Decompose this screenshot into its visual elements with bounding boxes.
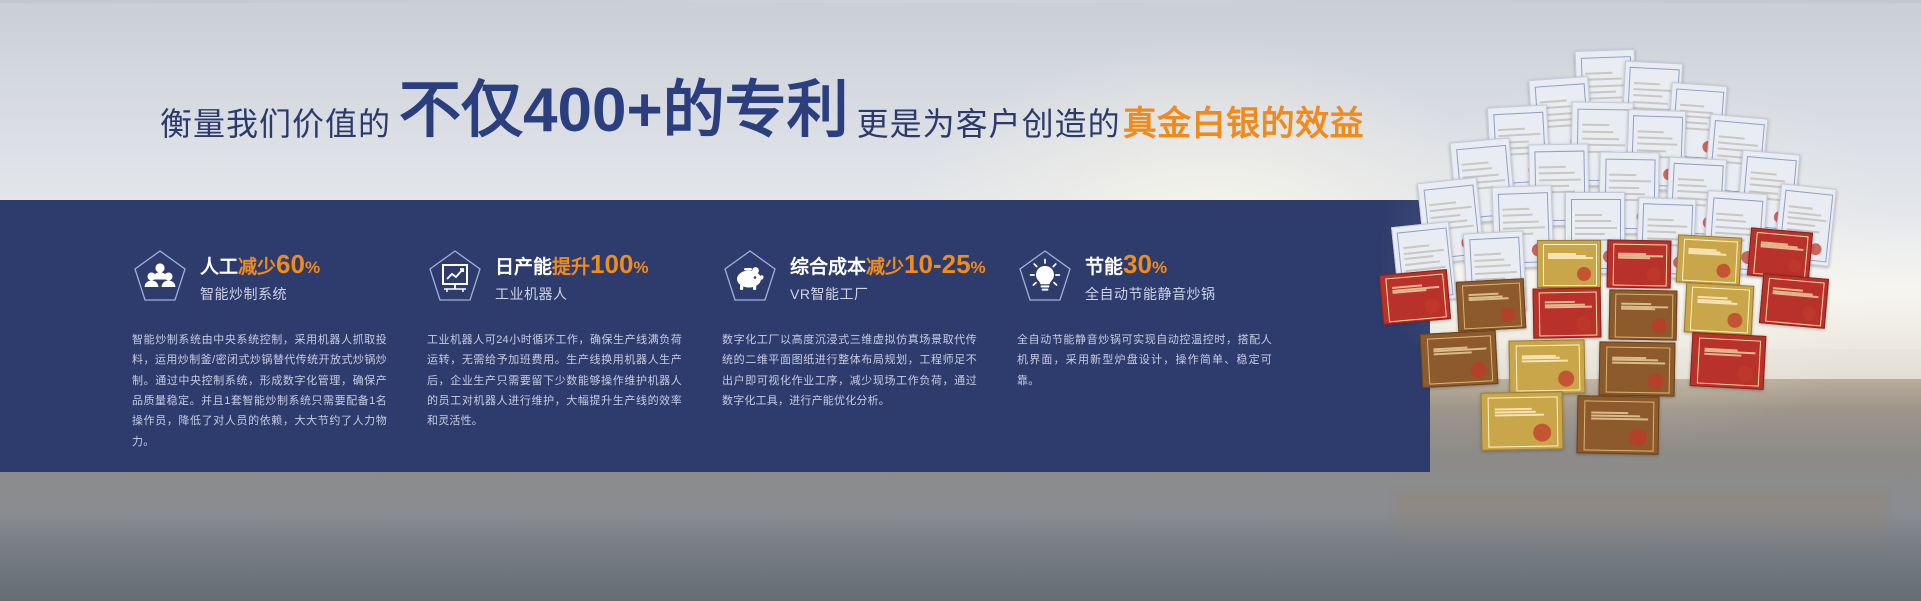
certificate-text-line: [1539, 166, 1566, 168]
feature-heading-text: 综合成本减少10-25% VR智能工厂: [790, 250, 986, 305]
certificate-item: [1577, 395, 1660, 454]
feature-heading-text: 节能30% 全自动节能静音炒锅: [1085, 250, 1216, 305]
certificate-text-line: [1582, 137, 1619, 140]
feature-header: 节能30% 全自动节能静音炒锅: [1017, 246, 1290, 308]
certificate-seal: [1424, 298, 1440, 314]
feature-title-prefix: 日产能: [495, 257, 552, 278]
headline-lead: 衡量我们价值的: [160, 108, 391, 142]
certificate-text-line: [1697, 301, 1738, 305]
feature-subtitle: 智能炒制系统: [200, 284, 320, 304]
headline-mid: 更是为客户创造的: [857, 108, 1121, 142]
certificate-text-line: [1503, 208, 1530, 211]
certificate-text-line: [1633, 94, 1662, 98]
certificate-seal: [1716, 264, 1731, 279]
certificate-item: [1420, 330, 1499, 388]
certificate-text-line: [1462, 167, 1492, 172]
certificate-item: [1684, 282, 1755, 335]
certificate-text-line: [1404, 255, 1433, 260]
certificate-text-line: [1787, 222, 1815, 227]
certificate-text-line: [1503, 220, 1539, 223]
certificate-seal: [1647, 373, 1663, 389]
certificate-text-line: [1647, 231, 1676, 234]
certificate-text-line: [1405, 260, 1440, 266]
feature-body: 工业机器人可24小时循环工作，确保生产线满负荷运转，无需给予加班费用。生产线换用…: [427, 330, 700, 432]
feature-subtitle: 工业机器人: [495, 284, 649, 304]
certificate-text-line: [1474, 253, 1501, 256]
certificate-text-line: [1582, 131, 1613, 134]
certificate-text-line: [1788, 211, 1821, 216]
certificate-text-line: [1462, 161, 1489, 165]
certificate-item: [1607, 239, 1672, 288]
feature-subtitle: VR智能工厂: [790, 284, 986, 304]
certificate-text-line: [1575, 227, 1617, 229]
feature-title-number: 30: [1123, 249, 1152, 279]
certificate-seal: [1576, 316, 1591, 331]
collage-reflection: [1395, 492, 1888, 562]
feature-item[interactable]: 综合成本减少10-25% VR智能工厂 数字化工厂以高度沉浸式三维虚拟仿真场景取…: [722, 246, 1017, 472]
feature-title-highlight: 减少: [866, 257, 904, 278]
certificate-seal: [1628, 428, 1646, 446]
certificate-text-line: [1750, 172, 1776, 176]
certificate-text-line: [1403, 244, 1429, 249]
certificate-text-line: [1539, 172, 1575, 175]
certificate-text-line: [1475, 265, 1511, 269]
feature-title-number: 10-25: [904, 249, 971, 279]
certificate-text-line: [1544, 306, 1592, 309]
certificate-text-line: [1609, 186, 1639, 189]
certificate-text-line: [1575, 233, 1605, 235]
certificate-text-line: [1499, 133, 1541, 137]
certificate-item: [1537, 240, 1601, 288]
certificate-text-line: [1429, 201, 1456, 206]
feature-header: 人工减少60% 智能炒制系统: [132, 246, 405, 308]
certificate-text-line: [1788, 205, 1813, 210]
certificate-text-line: [1540, 99, 1567, 103]
feature-title-highlight: 减少: [238, 257, 276, 278]
feature-title: 节能30%: [1085, 250, 1216, 280]
feature-title-number: 100: [590, 249, 633, 279]
certificate-text-line: [1716, 225, 1752, 230]
certificate-text-line: [1475, 270, 1517, 274]
feature-body: 智能炒制系统由中央系统控制，采用机器人抓取投料，运用炒制釜/密闭式炒锅替代传统开…: [132, 330, 405, 452]
certificate-text-line: [1648, 219, 1674, 222]
feature-title: 综合成本减少10-25%: [790, 250, 986, 280]
feature-title: 人工减少60%: [200, 250, 320, 280]
certificate-text-line: [1637, 143, 1677, 146]
chart-board-icon: [427, 248, 483, 306]
certificate-collage: [1361, 40, 1921, 500]
certificate-text-line: [1548, 257, 1593, 259]
feature-item[interactable]: 日产能提升100% 工业机器人 工业机器人可24小时循环工作，确保生产线满负荷运…: [427, 246, 722, 472]
headline-emphasis: 不仅400+的专利: [391, 80, 857, 142]
certificate-text-line: [1647, 225, 1687, 228]
certificate-text-line: [1431, 214, 1461, 219]
certificate-text-line: [1718, 142, 1758, 148]
feature-title-unit: %: [971, 258, 986, 277]
certificate-text-line: [1633, 101, 1668, 105]
certificate-text-line: [1475, 259, 1505, 263]
feature-title-prefix: 综合成本: [790, 257, 866, 278]
certificate-text-line: [1610, 173, 1637, 175]
certificate-item: [1533, 287, 1602, 338]
certificate-text-line: [1612, 361, 1665, 364]
certificate-text-line: [1680, 104, 1705, 108]
feature-title-unit: %: [305, 258, 320, 277]
headline-highlight: 真金白银的效益: [1121, 107, 1365, 142]
people-group-icon: [132, 248, 188, 306]
certificate-text-line: [1586, 84, 1628, 87]
certificate-text-line: [1637, 137, 1672, 140]
certificate-text-line: [1678, 184, 1707, 188]
certificate-item: [1481, 391, 1564, 450]
certificate-item: [1690, 332, 1767, 390]
certificate-item: [1747, 227, 1813, 280]
certificate-text-line: [1539, 178, 1581, 181]
certificate-text-line: [1787, 216, 1826, 222]
certificate-item: [1676, 234, 1742, 285]
certificate-text-line: [1575, 220, 1611, 222]
feature-header: 综合成本减少10-25% VR智能工厂: [722, 246, 995, 308]
certificate-text-line: [1591, 417, 1649, 420]
certificate-seal: [1470, 361, 1487, 378]
feature-item[interactable]: 人工减少60% 智能炒制系统 智能炒制系统由中央系统控制，采用机器人抓取投料，运…: [132, 246, 427, 472]
feature-title-highlight: 提升: [552, 257, 590, 278]
feature-body: 数字化工厂以高度沉浸式三维虚拟仿真场景取代传统的二维平面图纸进行整体布局规划，工…: [722, 330, 995, 411]
certificate-text-line: [1503, 214, 1533, 217]
feature-title-number: 60: [276, 249, 305, 279]
feature-title-unit: %: [633, 258, 648, 277]
certificate-seal: [1737, 365, 1754, 382]
headline: 衡量我们价值的 不仅400+的专利 更是为客户创造的 真金白银的效益: [0, 62, 1500, 142]
piggy-bank-icon: [722, 248, 778, 306]
certificate-text-line: [1404, 248, 1444, 254]
certificate-item: [1599, 341, 1676, 396]
feature-subtitle: 全自动节能静音炒锅: [1085, 284, 1216, 304]
background-top-edge: [0, 0, 1921, 3]
feature-title-prefix: 节能: [1085, 257, 1123, 278]
certificate-seal: [1577, 267, 1591, 281]
certificate-seal: [1500, 307, 1516, 323]
certificate-text-line: [1430, 206, 1472, 212]
certificate-text-line: [1609, 180, 1651, 183]
certificate-text-line: [1586, 72, 1613, 75]
feature-body: 全自动节能静音炒锅可实现自动控温控时，搭配人机界面，采用新型炉盘设计，操作简单、…: [1017, 330, 1290, 391]
certificate-text-line: [1586, 78, 1622, 81]
certificate-text-line: [1503, 226, 1545, 229]
certificate-text-line: [1498, 127, 1525, 130]
certificate-text-line: [1750, 178, 1785, 183]
lightbulb-icon: [1017, 248, 1073, 306]
certificate-text-line: [1678, 178, 1704, 181]
certificate-text-line: [1716, 219, 1746, 223]
certificate-text-line: [1621, 308, 1655, 311]
feature-title-unit: %: [1152, 258, 1167, 277]
certificate-text-line: [1718, 136, 1744, 140]
feature-header: 日产能提升100% 工业机器人: [427, 246, 700, 308]
certificate-seal: [1801, 306, 1816, 321]
certificate-text-line: [1634, 82, 1660, 85]
feature-title: 日产能提升100%: [495, 250, 649, 280]
certificate-text-line: [1586, 91, 1616, 94]
certificate-seal: [1727, 313, 1743, 329]
certificate-text-line: [1634, 88, 1674, 92]
certificate-text-line: [1618, 257, 1650, 260]
certificate-text-line: [1717, 212, 1744, 216]
certificate-text-line: [1495, 413, 1545, 416]
feature-list: 人工减少60% 智能炒制系统 智能炒制系统由中央系统控制，采用机器人抓取投料，运…: [0, 200, 1430, 472]
certificate-text-line: [1688, 252, 1726, 256]
certificate-item: [1456, 278, 1527, 331]
feature-heading-text: 人工减少60% 智能炒制系统: [200, 250, 320, 305]
certificate-text-line: [1582, 124, 1610, 126]
certificate-seal: [1558, 370, 1574, 386]
certificate-seal: [1787, 259, 1801, 273]
certificate-seal: [1651, 318, 1666, 333]
feature-item[interactable]: 节能30% 全自动节能静音炒锅 全自动节能静音炒锅可实现自动控温控时，搭配人机界…: [1017, 246, 1312, 472]
certificate-item: [1379, 269, 1451, 325]
certificate-seal: [1533, 424, 1551, 442]
certificate-text-line: [1575, 214, 1602, 216]
feature-heading-text: 日产能提升100% 工业机器人: [495, 250, 649, 305]
feature-title-prefix: 人工: [200, 257, 238, 278]
feature-panel: 人工减少60% 智能炒制系统 智能炒制系统由中央系统控制，采用机器人抓取投料，运…: [0, 200, 1430, 472]
certificate-text-line: [1638, 131, 1664, 134]
certificate-seal: [1647, 268, 1661, 282]
certificate-text-line: [1587, 97, 1623, 100]
certificate-text-line: [1522, 360, 1568, 363]
certificate-item: [1759, 273, 1829, 329]
certificate-item: [1609, 289, 1678, 340]
certificate-item: [1509, 339, 1586, 394]
